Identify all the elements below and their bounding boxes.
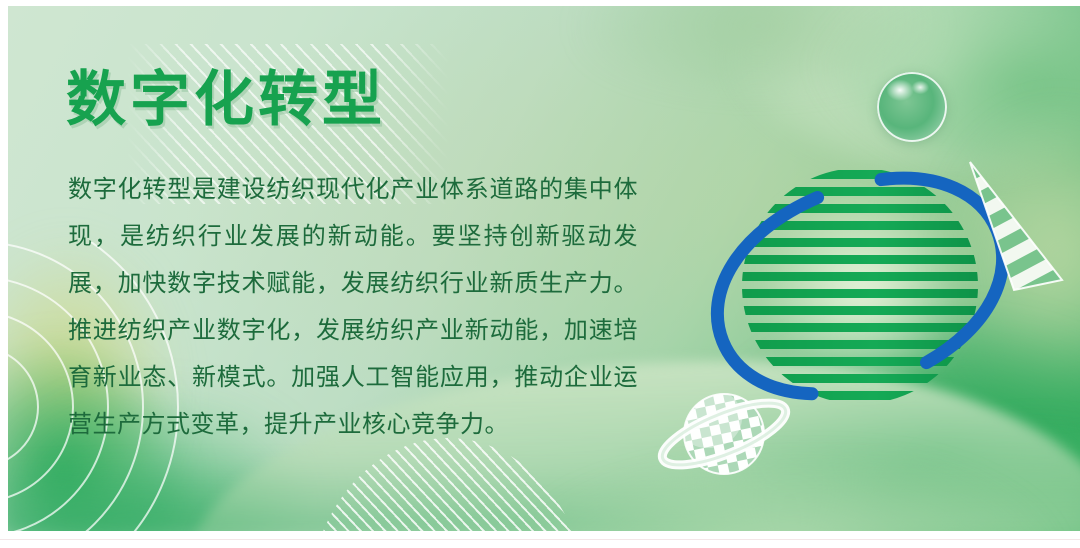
checkered-saturn-icon (648, 378, 808, 498)
frame-hairline (0, 539, 1080, 540)
body-paragraph: 数字化转型是建设纺织现代化产业体系道路的集中体现，是纺织行业发展的新动能。要坚持… (68, 166, 638, 448)
hatched-arc-icon (308, 438, 588, 531)
page-title: 数字化转型 (66, 70, 386, 130)
poster-banner: 数字化转型 数字化转型是建设纺织现代化产业体系道路的集中体现，是纺织行业发展的新… (0, 0, 1080, 548)
glossy-bubble-icon (877, 72, 947, 142)
striped-cone-icon (958, 158, 1080, 293)
frame-edge-left (0, 0, 8, 548)
frame-edge-top (0, 0, 1080, 6)
poster-canvas: 数字化转型 数字化转型是建设纺织现代化产业体系道路的集中体现，是纺织行业发展的新… (8, 6, 1080, 531)
